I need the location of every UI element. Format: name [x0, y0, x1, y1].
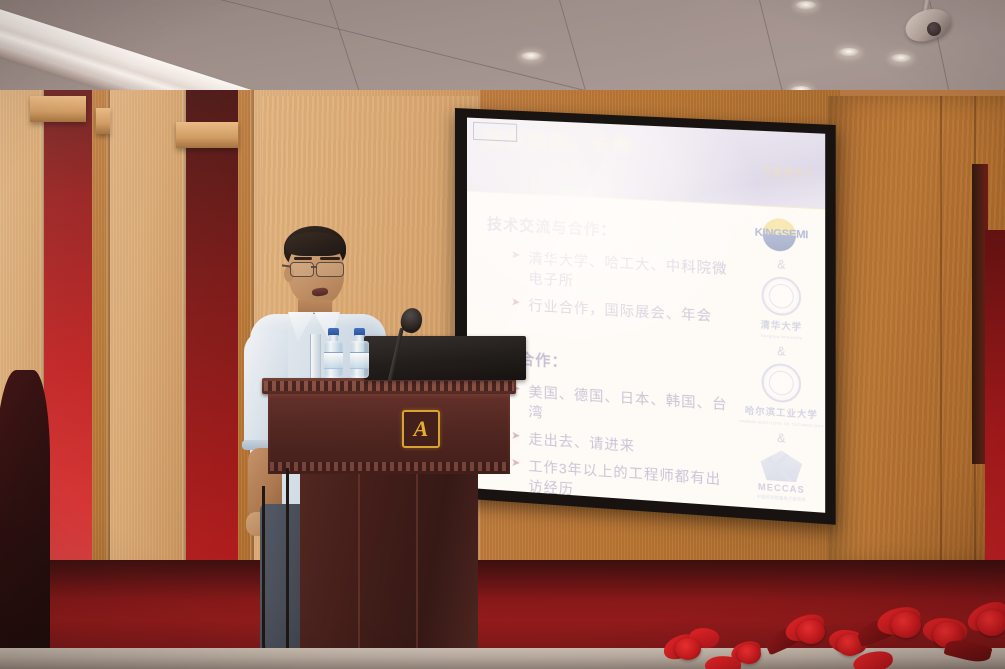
logo-ampersand: & — [777, 431, 785, 446]
water-bottle — [350, 328, 369, 378]
podium-cable — [286, 468, 305, 668]
flower-bloom — [675, 638, 701, 660]
bullet-arrow-icon: ➤ — [511, 247, 521, 265]
foreground-dark-figure — [0, 370, 50, 669]
ceiling-downlight — [795, 1, 817, 10]
slide-bullet-text: 走出去、请进来 — [528, 429, 635, 456]
meccas-wordmark: MECCAS — [758, 482, 805, 495]
presentation-photo: 对外交流、合作 芯源微电子 www.kingsemi.com 技术交流与合作： … — [0, 0, 1005, 669]
slide-bullet: ➤ 行业合作，国际展会、年会 — [511, 294, 731, 327]
slide-logo-column: KINGSEMI & 清华大学 Tsinghua University & 哈尔… — [738, 205, 826, 513]
flower-bloom — [977, 610, 1005, 636]
logo-ampersand: & — [777, 344, 785, 359]
speaker-glasses — [290, 262, 346, 275]
pilaster-cap — [30, 96, 86, 122]
podium-emblem-icon: A — [402, 410, 440, 448]
microphone-stem — [388, 328, 404, 382]
slide-brand: 芯源微电子 www.kingsemi.com — [762, 164, 815, 186]
podium-stud-trim — [270, 462, 508, 471]
pilaster-cap — [176, 122, 238, 148]
slide-section-heading: 技术交流与合作： — [487, 213, 731, 247]
slide-bullet: ➤ 美国、德国、日本、韩国、台湾 — [511, 380, 731, 434]
slide-bullet: ➤ 工作3年以上的工程师都有出访经历 — [511, 455, 731, 511]
ceiling-downlight — [838, 48, 860, 57]
flower-leaf — [944, 637, 993, 666]
tsinghua-name-cn: 清华大学 — [760, 318, 802, 334]
gooseneck-microphone — [388, 308, 428, 380]
slide-bullet-text: 美国、德国、日本、韩国、台湾 — [528, 382, 731, 435]
bottle-label — [324, 352, 343, 369]
podium-stud-trim — [264, 381, 514, 391]
flower-arrangement — [645, 590, 1005, 669]
presentation-slide: 对外交流、合作 芯源微电子 www.kingsemi.com 技术交流与合作： … — [467, 118, 825, 513]
slide-bullet-text: 行业合作，国际展会、年会 — [528, 295, 712, 326]
flower-bloom — [797, 620, 825, 644]
slide-bullet-text: 清华大学、哈工大、中科院微电子所 — [528, 248, 731, 300]
speaker-hair-front — [286, 232, 344, 256]
slide-bullet: ➤ 清华大学、哈工大、中科院微电子所 — [511, 247, 731, 300]
kingsemi-wordmark: KINGSEMI — [742, 226, 821, 242]
tsinghua-name-en: Tsinghua University — [760, 333, 802, 341]
wall-far-red-panel — [985, 230, 1005, 560]
meccas-logo-icon — [761, 449, 803, 482]
tsinghua-seal-icon — [762, 276, 802, 317]
water-bottle — [324, 328, 343, 378]
slide-bullet-text: 工作3年以上的工程师都有出访经历 — [528, 456, 731, 510]
meccas-name-cn: 中国科学院微电子研究所 — [757, 494, 806, 504]
kingsemi-logo-icon: KINGSEMI — [742, 216, 821, 255]
flower-bloom — [891, 612, 921, 638]
bottle-label — [350, 352, 369, 369]
ceiling-downlight — [890, 54, 912, 63]
bullet-arrow-icon: ➤ — [511, 294, 521, 312]
podium-cable — [262, 486, 287, 669]
slide-corner-marker — [473, 122, 517, 142]
flower-bloom — [737, 644, 761, 664]
logo-ampersand: & — [777, 257, 785, 272]
hit-seal-icon — [762, 362, 802, 403]
brand-tagline: www.kingsemi.com — [762, 177, 815, 186]
podium-base — [300, 474, 478, 669]
ceiling-projector-icon — [901, 0, 957, 48]
projection-screen-surface: 对外交流、合作 芯源微电子 www.kingsemi.com 技术交流与合作： … — [467, 118, 825, 513]
ceiling-downlight — [520, 52, 542, 61]
pilaster-cap — [96, 108, 110, 134]
